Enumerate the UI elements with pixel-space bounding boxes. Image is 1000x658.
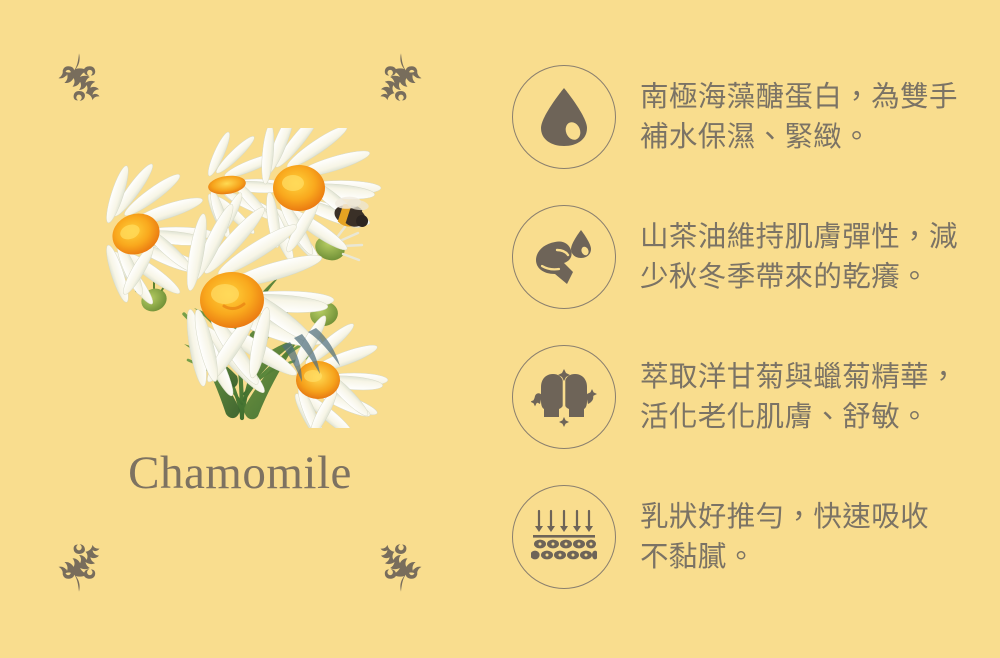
hand-with-oil-drop-icon — [512, 205, 616, 309]
product-feature-banner: Chamomile 南極海藻醣蛋白，為雙手 補水保濕、緊緻。 — [0, 0, 1000, 658]
feature-text-absorption: 乳狀好推勻，快速吸收 不黏膩。 — [640, 497, 929, 578]
plant-panel: Chamomile — [0, 0, 480, 658]
feature-item-hydration: 南極海藻醣蛋白，為雙手 補水保濕、緊緻。 — [512, 58, 982, 176]
absorption-arrows-icon — [512, 485, 616, 589]
feature-item-camellia-oil: 山茶油維持肌膚彈性，減 少秋冬季帶來的乾癢。 — [512, 198, 982, 316]
feature-list: 南極海藻醣蛋白，為雙手 補水保濕、緊緻。 山茶油維持肌膚彈性，減 少秋冬季帶來的… — [512, 58, 982, 596]
feature-item-chamomile-extract: 萃取洋甘菊與蠟菊精華， 活化老化肌膚、舒敏。 — [512, 338, 982, 456]
feature-text-camellia-oil: 山茶油維持肌膚彈性，減 少秋冬季帶來的乾癢。 — [640, 217, 958, 298]
plant-title: Chamomile — [0, 448, 480, 500]
feature-item-absorption: 乳狀好推勻，快速吸收 不黏膩。 — [512, 478, 982, 596]
water-drop-icon — [512, 65, 616, 169]
feature-text-chamomile-extract: 萃取洋甘菊與蠟菊精華， 活化老化肌膚、舒敏。 — [640, 357, 958, 438]
chamomile-illustration — [92, 128, 402, 428]
feature-text-hydration: 南極海藻醣蛋白，為雙手 補水保濕、緊緻。 — [640, 77, 958, 158]
two-hands-sparkle-icon — [512, 345, 616, 449]
